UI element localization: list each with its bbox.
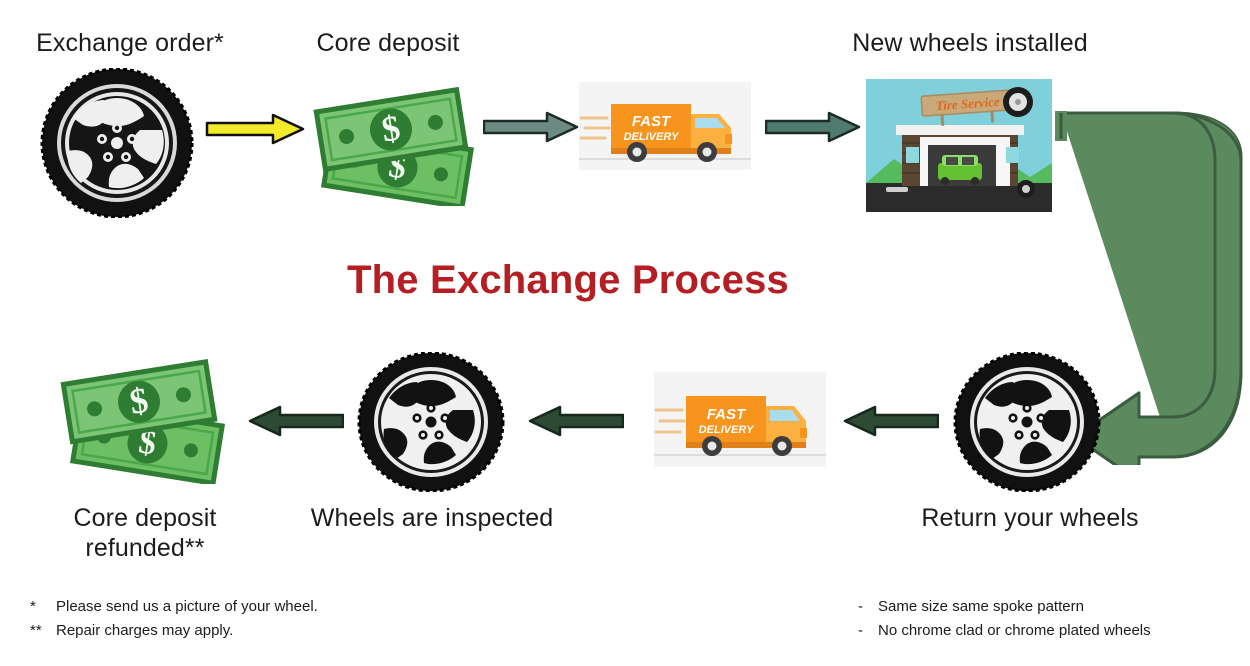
silver-alloy-wheel-icon-return (953, 352, 1101, 492)
step-label-wheels-inspected: Wheels are inspected (292, 503, 572, 533)
svg-text:FAST: FAST (707, 406, 747, 423)
note-text: Repair charges may apply. (56, 619, 233, 643)
step-label-exchange-order: Exchange order* (0, 28, 260, 58)
note-marker: - (858, 619, 878, 643)
notes-left: * Please send us a picture of your wheel… (30, 595, 318, 643)
tire-service-shop-icon: Tire Service (866, 79, 1052, 212)
truck-text-delivery: DELIVERY (624, 131, 680, 143)
note-marker: - (858, 595, 878, 619)
note-item: - No chrome clad or chrome plated wheels (858, 619, 1151, 643)
arrow-truck-to-inspect (528, 404, 624, 438)
note-item: ** Repair charges may apply. (30, 619, 318, 643)
step-label-core-deposit-refunded: Core deposit refunded** (20, 503, 270, 563)
note-text: No chrome clad or chrome plated wheels (878, 619, 1151, 643)
black-alloy-wheel-icon (40, 68, 195, 218)
note-text: Same size same spoke pattern (878, 595, 1084, 619)
note-item: - Same size same spoke pattern (858, 595, 1151, 619)
cash-money-icon-top: $ $ (310, 76, 480, 206)
exchange-process-diagram: Exchange order* Core deposit New wheels … (0, 0, 1250, 666)
arrow-truck-to-shop (765, 110, 861, 144)
note-marker: ** (30, 619, 56, 643)
step-label-return-your-wheels: Return your wheels (880, 503, 1180, 533)
arrow-order-to-deposit (205, 112, 305, 146)
arrow-inspect-to-refund (248, 404, 344, 438)
silver-alloy-wheel-icon-inspected (357, 352, 505, 492)
note-item: * Please send us a picture of your wheel… (30, 595, 318, 619)
truck-text-fast: FAST (632, 113, 672, 130)
delivery-truck-icon-inbound: FAST DELIVERY (654, 372, 826, 467)
step-label-new-wheels-installed: New wheels installed (790, 28, 1150, 58)
delivery-truck-icon-outbound: FAST DELIVERY (579, 82, 751, 170)
page-title: The Exchange Process (347, 258, 789, 303)
arrow-deposit-to-truck (483, 110, 579, 144)
note-marker: * (30, 595, 56, 619)
note-text: Please send us a picture of your wheel. (56, 595, 318, 619)
svg-text:DELIVERY: DELIVERY (699, 424, 755, 436)
step-label-core-deposit: Core deposit (268, 28, 508, 58)
notes-right: - Same size same spoke pattern - No chro… (858, 595, 1151, 643)
arrow-return-to-truck (843, 404, 939, 438)
cash-money-icon-refund: $ $ (55, 352, 235, 484)
